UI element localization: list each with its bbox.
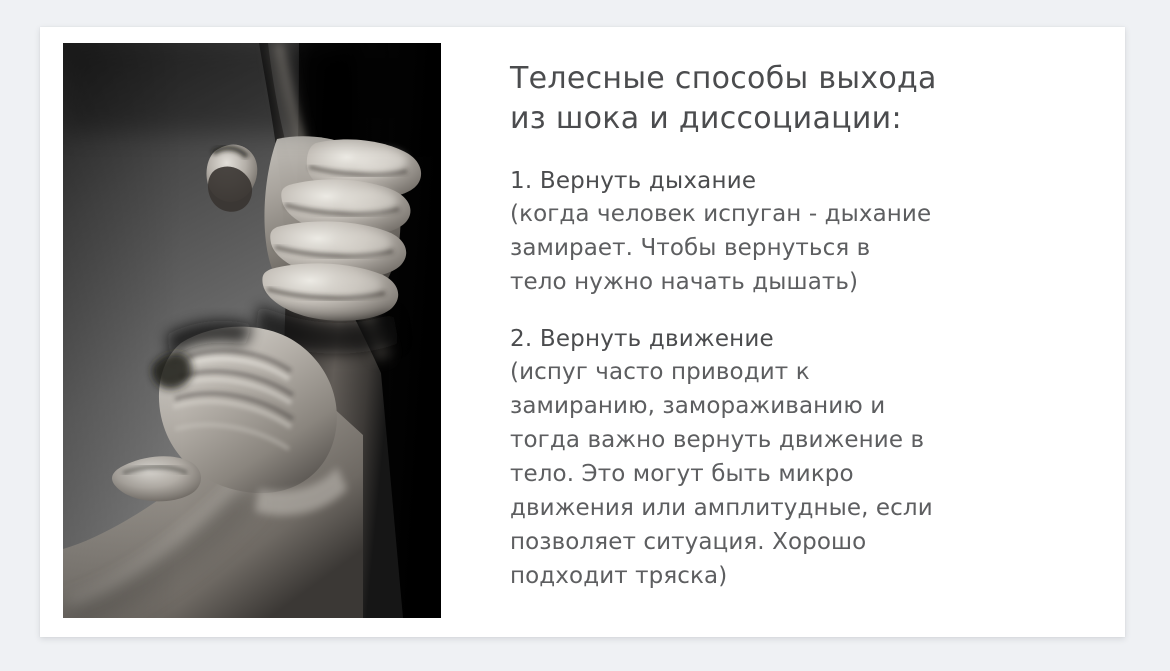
photo-illustration-svg (63, 43, 441, 618)
slide-title: Телесные способы выхода из шока и диссоц… (510, 59, 1040, 139)
step-body: (когда человек испуган - дыхание замирае… (510, 197, 1058, 299)
step-body-line: замирает. Чтобы вернуться в (510, 231, 1058, 265)
step-body-line: движения или амплитудные, если (510, 491, 1058, 525)
step-block-2: 2. Вернуть движение (испуг часто приводи… (510, 323, 1125, 593)
step-body-line: тело. Это могут быть микро (510, 457, 1058, 491)
step-block-1: 1. Вернуть дыхание (когда человек испуга… (510, 165, 1125, 299)
slide-card: Телесные способы выхода из шока и диссоц… (40, 27, 1125, 637)
step-body-line: подходит тряска) (510, 559, 1058, 593)
step-body-line: замиранию, замораживанию и (510, 389, 1058, 423)
step-body-line: тело нужно начать дышать) (510, 265, 1058, 299)
step-body-line: тогда важно вернуть движение в (510, 423, 1058, 457)
slide-title-line: из шока и диссоциации: (510, 99, 1040, 139)
slide-title-line: Телесные способы выхода (510, 59, 1040, 99)
helping-hands-photo (63, 43, 441, 618)
text-column: Телесные способы выхода из шока и диссоц… (441, 43, 1125, 616)
step-body: (испуг часто приводит к замиранию, замор… (510, 355, 1058, 593)
step-heading: 2. Вернуть движение (510, 323, 1125, 355)
step-body-line: (когда человек испуган - дыхание (510, 197, 1058, 231)
step-body-line: позволяет ситуация. Хорошо (510, 525, 1058, 559)
step-heading: 1. Вернуть дыхание (510, 165, 1125, 197)
step-body-line: (испуг часто приводит к (510, 355, 1058, 389)
